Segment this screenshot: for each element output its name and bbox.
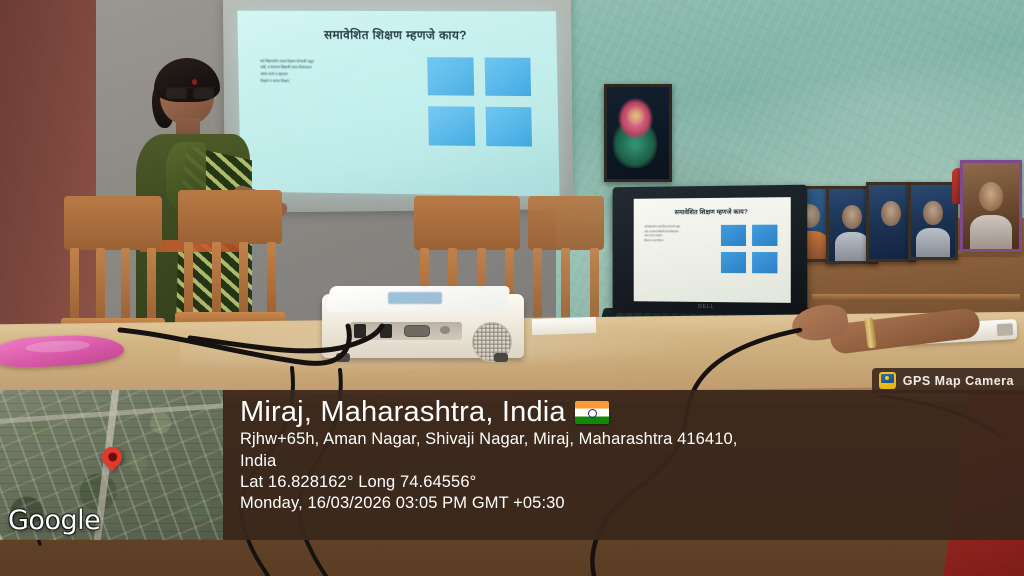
projected-slide-body-line: शिक्षण व करता शिक्षण <box>260 78 393 86</box>
chair-slat <box>184 242 193 314</box>
location-title-row: Miraj, Maharashtra, India <box>240 396 1010 428</box>
wooden-chair <box>528 196 604 334</box>
chair-slat <box>267 242 276 314</box>
wooden-chair <box>178 190 282 336</box>
laptop-slide-body-line: शिक्षण व करता शिक्षण <box>644 239 712 244</box>
chair-slat <box>239 242 248 314</box>
portrait-robe <box>916 228 949 257</box>
chair-slat <box>212 242 221 314</box>
projector-foot <box>494 353 508 362</box>
location-title: Miraj, Maharashtra, India <box>240 396 566 428</box>
portrait-image <box>869 185 913 259</box>
laptop-lid: समावेशित शिक्षण म्हणजे काय? सर्व विद्यार… <box>613 185 808 316</box>
address-line-1: Rjhw+65h, Aman Nagar, Shivaji Nagar, Mir… <box>240 429 1010 450</box>
gps-map-camera-photo: समावेशित शिक्षण म्हणजे काय? सर्व विद्यार… <box>0 0 1024 576</box>
portrait-face <box>923 201 942 225</box>
slide-tile <box>485 107 532 146</box>
chair-back <box>64 196 162 250</box>
gps-info-block: Miraj, Maharashtra, India Rjhw+65h, Aman… <box>224 390 1024 540</box>
framed-portrait <box>960 160 1022 252</box>
wooden-chair <box>64 196 162 336</box>
laptop-slide-title: समावेशित शिक्षण म्हणजे काय? <box>646 207 778 217</box>
gps-map-camera-label: GPS Map Camera <box>903 374 1014 388</box>
chair-back <box>178 190 282 244</box>
chair-slats <box>184 242 276 314</box>
gps-map-camera-watermark: GPS Map Camera <box>872 368 1024 393</box>
portrait-image <box>911 185 955 257</box>
projector-power-port <box>354 324 366 338</box>
portrait-image <box>963 163 1019 249</box>
chair-slat <box>70 248 79 320</box>
chair-back <box>414 196 520 250</box>
presenter-bindi <box>192 79 197 85</box>
forearm <box>829 307 982 355</box>
chair-slats <box>533 248 600 320</box>
framed-artwork <box>604 84 672 182</box>
slide-tile <box>720 252 746 273</box>
framed-portrait <box>908 182 958 260</box>
chair-slats <box>70 248 156 320</box>
google-logo: Google <box>8 505 100 536</box>
portrait-face <box>979 182 1004 211</box>
laptop-brand-label: DELL <box>698 304 714 310</box>
timestamp-line: Monday, 16/03/2026 03:05 PM GMT +05:30 <box>240 493 1010 514</box>
gps-overlay-panel: Google Miraj, Maharashtra, India Rjhw+65… <box>0 390 1024 576</box>
projector <box>322 280 524 364</box>
projector-video-port <box>380 324 392 338</box>
laptop-slide-tiles <box>720 225 777 274</box>
chair-slat <box>533 248 542 320</box>
chair-slat <box>121 248 130 320</box>
projector-top-label <box>388 292 442 304</box>
slide-tile <box>752 252 778 273</box>
address-line-2: India <box>240 451 1010 472</box>
paper-sheet <box>532 317 597 335</box>
projector-vga-port <box>404 325 430 337</box>
chair-slat <box>147 248 156 320</box>
slide-tile <box>720 225 746 246</box>
presenter-glasses <box>166 87 214 97</box>
india-flag-icon <box>575 401 609 424</box>
chair-back <box>528 196 604 250</box>
coordinates-line: Lat 16.828162° Long 74.64556° <box>240 472 1010 493</box>
slide-tile <box>752 225 778 246</box>
portrait-face <box>881 201 900 226</box>
projected-slide-body: सर्व विद्यार्थ्यांना एकत्र शिक्षण देण्या… <box>260 58 393 85</box>
hand <box>792 300 972 362</box>
portrait-robe <box>970 215 1013 249</box>
gps-map-camera-app-icon <box>879 372 896 389</box>
map-thumbnail[interactable]: Google <box>0 390 224 540</box>
projected-slide: समावेशित शिक्षण म्हणजे काय? सर्व विद्यार… <box>237 11 559 197</box>
laptop-slide-body: सर्व विद्यार्थ्यांना एकत्र शिक्षण देण्या… <box>644 225 712 243</box>
slide-tile <box>428 57 475 96</box>
projected-slide-tiles <box>428 57 533 146</box>
laptop-screen: समावेशित शिक्षण म्हणजे काय? सर्व विद्यार… <box>634 197 791 303</box>
projector-knob <box>440 326 450 334</box>
chair-slat <box>590 248 599 320</box>
projected-slide-title: समावेशित शिक्षण म्हणजे काय? <box>263 25 531 43</box>
chair-slat <box>561 248 570 320</box>
portrait-face <box>842 205 862 229</box>
chair-slat <box>96 248 105 320</box>
slide-tile <box>429 106 476 145</box>
projector-foot <box>336 353 350 362</box>
portrait-robe <box>835 232 870 261</box>
slide-tile <box>484 57 531 96</box>
